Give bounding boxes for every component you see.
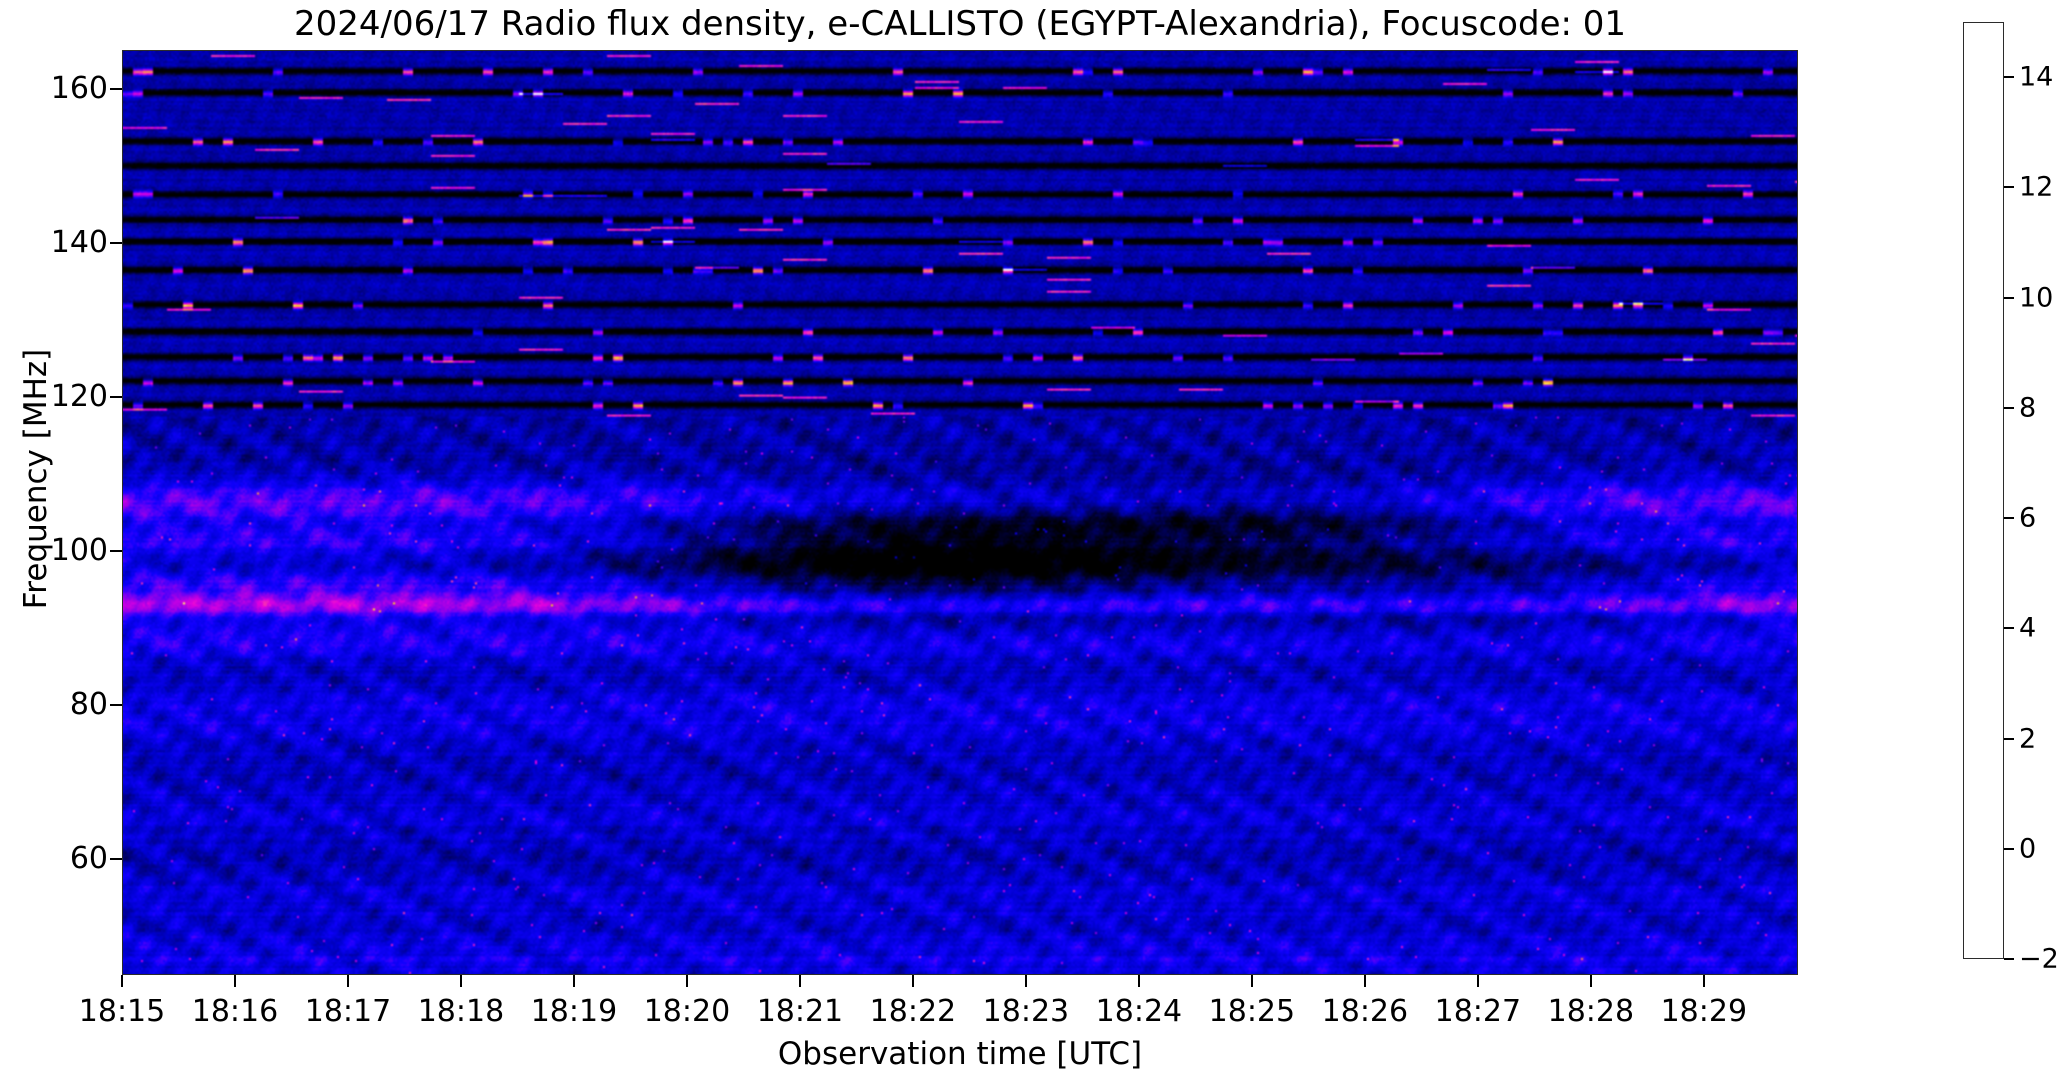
y-tick-mark (110, 242, 122, 244)
colorbar-tick-mark (2004, 517, 2014, 519)
colorbar-tick-mark (2004, 627, 2014, 629)
colorbar-tick-mark (2004, 186, 2014, 188)
colorbar (1963, 22, 2004, 959)
x-tick-mark (573, 975, 575, 987)
colorbar-tick-mark (2004, 76, 2014, 78)
x-tick-label: 18:25 (1209, 997, 1295, 1027)
colorbar-tick-label: 8 (2019, 394, 2036, 421)
colorbar-tick-label: 6 (2019, 505, 2036, 532)
x-tick-label: 18:22 (870, 997, 956, 1027)
colorbar-tick-mark (2004, 297, 2014, 299)
x-tick-mark (1703, 975, 1705, 987)
x-axis: Observation time [UTC] 18:1518:1618:1718… (0, 975, 2066, 1067)
y-tick-mark (110, 550, 122, 552)
x-tick-mark (799, 975, 801, 987)
y-axis-title: Frequency [MHz] (19, 49, 53, 909)
x-tick-mark (1025, 975, 1027, 987)
colorbar-tick-mark (2004, 958, 2014, 960)
y-tick-mark (110, 88, 122, 90)
x-tick-label: 18:27 (1435, 997, 1521, 1027)
x-tick-label: 18:23 (983, 997, 1069, 1027)
y-tick-mark (110, 704, 122, 706)
x-tick-mark (686, 975, 688, 987)
colorbar-tick-label: −2 (2019, 946, 2059, 973)
y-axis: Frequency [MHz] 1601401201008060 (0, 0, 122, 1067)
x-tick-mark (234, 975, 236, 987)
y-tick-label: 60 (70, 844, 108, 874)
colorbar-tick-label: 0 (2019, 835, 2036, 862)
page-title: 2024/06/17 Radio flux density, e-CALLIST… (0, 4, 1920, 44)
x-tick-mark (1590, 975, 1592, 987)
y-tick-label: 100 (51, 536, 108, 566)
x-tick-label: 18:29 (1661, 997, 1747, 1027)
x-tick-mark (1251, 975, 1253, 987)
spectrogram-image (123, 51, 1797, 974)
x-tick-label: 18:28 (1548, 997, 1634, 1027)
x-tick-mark (1138, 975, 1140, 987)
x-tick-label: 18:15 (79, 997, 165, 1027)
x-tick-label: 18:21 (757, 997, 843, 1027)
x-tick-label: 18:16 (192, 997, 278, 1027)
x-tick-mark (1477, 975, 1479, 987)
x-tick-mark (912, 975, 914, 987)
x-tick-mark (460, 975, 462, 987)
y-tick-mark (110, 858, 122, 860)
y-tick-label: 120 (51, 382, 108, 412)
spectrogram-figure: 2024/06/17 Radio flux density, e-CALLIST… (0, 0, 2066, 1067)
x-tick-label: 18:19 (531, 997, 617, 1027)
y-tick-mark (110, 396, 122, 398)
x-axis-title: Observation time [UTC] (122, 1037, 1798, 1071)
colorbar-tick-label: 2 (2019, 725, 2036, 752)
x-tick-mark (121, 975, 123, 987)
colorbar-tick-mark (2004, 738, 2014, 740)
y-tick-label: 160 (51, 74, 108, 104)
colorbar-tick-label: 12 (2019, 174, 2053, 201)
colorbar-tick-mark (2004, 848, 2014, 850)
colorbar-tick-label: 10 (2019, 284, 2053, 311)
spectrogram-image-wrap (123, 51, 1797, 974)
plot-area[interactable] (122, 50, 1798, 975)
x-tick-label: 18:20 (644, 997, 730, 1027)
x-tick-label: 18:18 (418, 997, 504, 1027)
colorbar-ticks: 14121086420−2 (2004, 0, 2066, 1067)
x-tick-label: 18:26 (1322, 997, 1408, 1027)
x-tick-mark (1364, 975, 1366, 987)
x-tick-label: 18:17 (305, 997, 391, 1027)
x-tick-label: 18:24 (1096, 997, 1182, 1027)
x-tick-mark (347, 975, 349, 987)
colorbar-tick-label: 14 (2019, 64, 2053, 91)
colorbar-tick-label: 4 (2019, 615, 2036, 642)
y-tick-label: 140 (51, 228, 108, 258)
colorbar-gradient (1964, 23, 2003, 958)
colorbar-tick-mark (2004, 407, 2014, 409)
y-tick-label: 80 (70, 690, 108, 720)
